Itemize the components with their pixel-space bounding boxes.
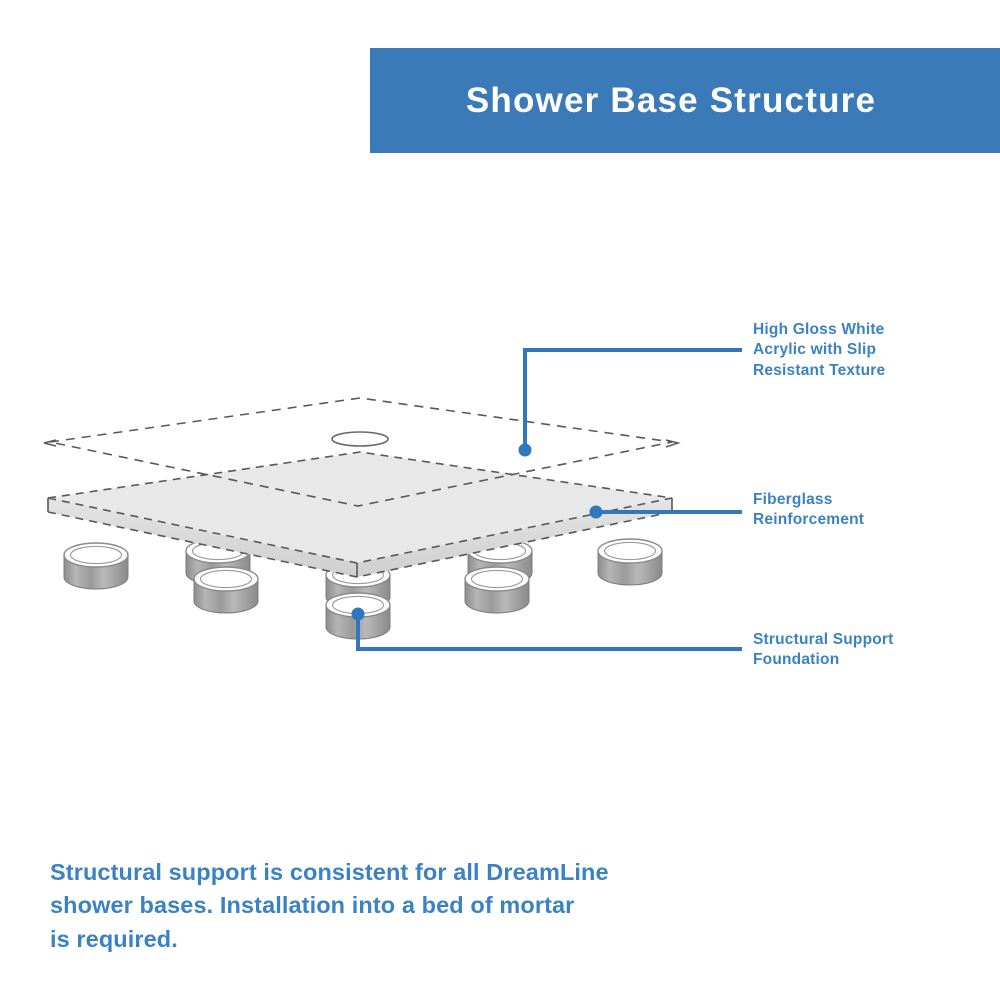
drain-opening (332, 432, 388, 446)
support-ring (194, 567, 258, 613)
support-ring (64, 543, 128, 589)
support-ring (465, 567, 529, 613)
leader-dot-support (352, 608, 365, 621)
leader-dot-acrylic (519, 444, 532, 457)
callout-label-structural-support: Structural Support Foundation (753, 630, 983, 671)
callout-label-fiberglass: Fiberglass Reinforcement (753, 490, 983, 531)
footer-caption: Structural support is consistent for all… (50, 856, 700, 956)
callout-label-acrylic: High Gloss White Acrylic with Slip Resis… (753, 320, 983, 381)
support-ring (598, 539, 662, 585)
leader-dot-fiberglass (590, 506, 603, 519)
fiberglass-slab (48, 452, 672, 577)
